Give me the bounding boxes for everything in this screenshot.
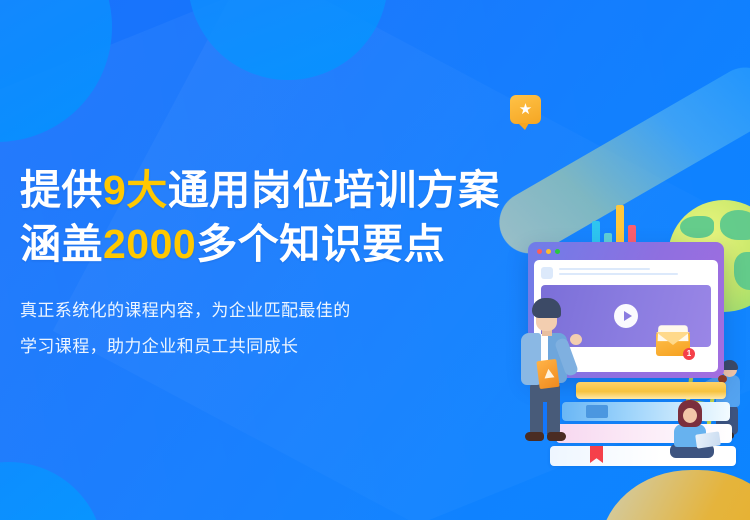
headline-line-1: 提供9大通用岗位培训方案 <box>20 163 580 217</box>
play-icon[interactable] <box>614 304 638 328</box>
star-icon: ★ <box>519 102 532 117</box>
headline-line1-prefix: 提供 <box>20 167 103 213</box>
sitter-face <box>683 408 697 423</box>
headline-line2-accent: 2000 <box>103 221 196 267</box>
banner-subcopy: 真正系统化的课程内容，为企业匹配最佳的 学习课程，助力企业和员工共同成长 <box>20 293 580 365</box>
presenter-leg-gap <box>543 402 547 434</box>
laptop-icon <box>695 431 721 448</box>
subcopy-line-2: 学习课程，助力企业和员工共同成长 <box>20 329 580 365</box>
star-badge: ★ <box>510 95 541 124</box>
book-spine-label <box>586 405 608 418</box>
text-placeholder-lines <box>559 268 711 278</box>
globe-landmass <box>680 216 714 238</box>
headline-line1-accent: 9大 <box>103 167 168 213</box>
headline-line2-prefix: 涵盖 <box>20 221 103 267</box>
globe-landmass <box>720 210 750 240</box>
banner-copy: 提供9大通用岗位培训方案 涵盖2000多个知识要点 真正系统化的课程内容，为企业… <box>20 163 580 365</box>
promo-banner: 1 <box>0 0 750 520</box>
presenter-shoe <box>547 432 566 441</box>
headline-line1-suffix: 通用岗位培训方案 <box>168 167 500 213</box>
bar-chart-icon <box>592 205 638 247</box>
globe-landmass <box>734 252 750 290</box>
headline-line2-suffix: 多个知识要点 <box>196 221 445 267</box>
presenter-shoe <box>525 432 544 441</box>
envelope-fold <box>656 332 690 345</box>
person-with-laptop <box>666 400 724 462</box>
envelope-icon[interactable]: 1 <box>656 332 690 356</box>
book-item <box>576 382 726 399</box>
bar-chart-bar-3 <box>616 205 624 247</box>
headline-line-2: 涵盖2000多个知识要点 <box>20 217 445 271</box>
notification-badge: 1 <box>683 348 695 360</box>
subcopy-line-1: 真正系统化的课程内容，为企业匹配最佳的 <box>20 293 580 329</box>
